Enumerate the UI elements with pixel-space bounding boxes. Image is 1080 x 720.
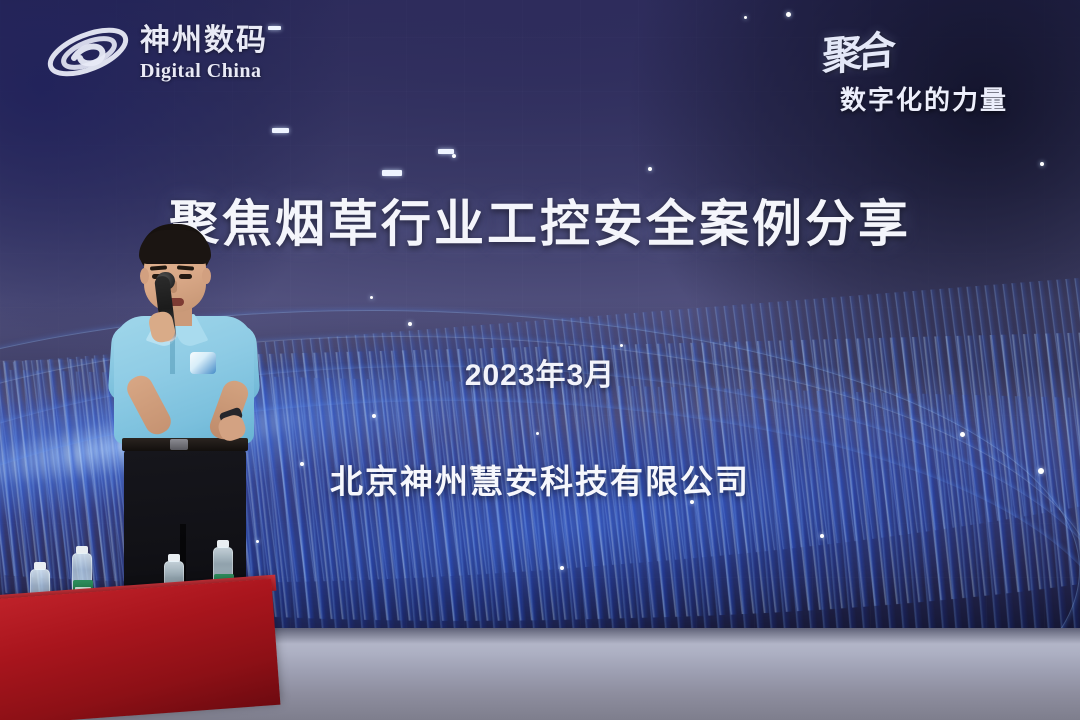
particle-dot [786,12,791,17]
table-cloth [0,579,280,720]
particle-dot [372,414,376,418]
digital-china-english: Digital China [140,58,320,84]
particle-dot [648,167,652,171]
speaker-ear-left [140,268,149,284]
digital-china-chinese: 神州数码 [140,24,320,58]
particle-dash [382,170,402,176]
particle-dot [560,566,564,570]
particle-dash [438,149,454,154]
particle-dot [744,16,747,19]
particle-dot [620,344,623,347]
particle-dot [452,154,456,158]
speaker-figure [92,224,282,628]
particle-dot [1040,162,1044,166]
speaker-belt-buckle [170,439,188,450]
digital-china-logo: 神州数码 Digital China [44,22,312,94]
juhe-calligraphy: 聚合 [822,11,952,87]
particle-dash [272,128,289,133]
particle-dot [536,432,539,435]
speaker-eye-right [179,274,192,279]
conference-photo: 神州数码 Digital China 聚合 数字化的力量 聚焦烟草行业工控安全案… [0,0,1080,720]
particle-dot [820,534,824,538]
speaker-ear-right [202,268,211,284]
juhe-subtitle: 数字化的力量 [840,80,1070,117]
juhe-logo: 聚合 数字化的力量 [810,18,1062,110]
particle-dot [408,322,412,326]
digital-china-swirl-icon [44,22,132,90]
speaker-chest-logo [190,352,216,374]
particle-dot [960,432,965,437]
speaker-hair-front [139,230,211,264]
particle-dot [370,296,373,299]
digital-china-wordmark: 神州数码 Digital China [140,24,320,84]
